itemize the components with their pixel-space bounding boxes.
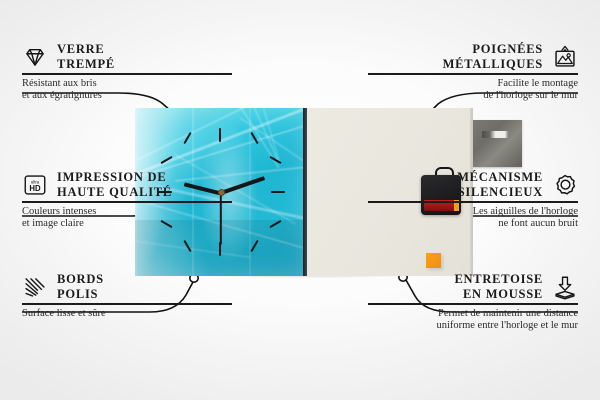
feature-title: POIGNÉES MÉTALLIQUES xyxy=(443,42,543,71)
feature-description: Facilite le montage de l'horloge sur le … xyxy=(368,75,578,103)
infographic-canvas: VERRE TREMPÉ Résistant aux bris et aux é… xyxy=(0,0,600,400)
ultra-hd-icon: ultra HD xyxy=(22,172,48,198)
feature-verre-trempe: VERRE TREMPÉ Résistant aux bris et aux é… xyxy=(22,42,232,103)
feature-header: BORDS POLIS xyxy=(22,272,232,303)
polished-edges-icon xyxy=(22,274,48,300)
feature-header: MÉCANISME SILENCIEUX xyxy=(368,170,578,201)
feature-description: Couleurs intenses et image claire xyxy=(22,203,232,231)
feature-impression-haute-qualite: ultra HD IMPRESSION DE HAUTE QUALITÉ Cou… xyxy=(22,170,232,231)
feature-header: ultra HD IMPRESSION DE HAUTE QUALITÉ xyxy=(22,170,232,201)
feature-bords-polis: BORDS POLIS Surface lisse et sûre xyxy=(22,272,232,320)
feature-title: ENTRETOISE EN MOUSSE xyxy=(454,272,543,301)
foam-spacer-icon xyxy=(552,274,578,300)
hanger-slot xyxy=(482,131,508,138)
feature-poignees-metalliques: POIGNÉES MÉTALLIQUES Facilite le montage… xyxy=(368,42,578,103)
feature-title: BORDS POLIS xyxy=(57,272,104,301)
feature-description: Surface lisse et sûre xyxy=(22,305,232,321)
feature-description: Les aiguilles de l'horloge ne font aucun… xyxy=(368,203,578,231)
feature-mecanisme-silencieux: MÉCANISME SILENCIEUX Les aiguilles de l'… xyxy=(368,170,578,231)
feature-title: MÉCANISME SILENCIEUX xyxy=(457,170,543,199)
svg-text:HD: HD xyxy=(29,184,41,193)
feature-description: Résistant aux bris et aux égratignures xyxy=(22,75,232,103)
feature-header: VERRE TREMPÉ xyxy=(22,42,232,73)
feature-title: VERRE TREMPÉ xyxy=(57,42,115,71)
metal-hanger-plate xyxy=(472,120,522,167)
feature-header: ENTRETOISE EN MOUSSE xyxy=(368,272,578,303)
feature-header: POIGNÉES MÉTALLIQUES xyxy=(368,42,578,73)
feature-entretoise-en-mousse: ENTRETOISE EN MOUSSE Permet de maintenir… xyxy=(368,272,578,333)
gear-icon xyxy=(552,172,578,198)
picture-hanger-icon xyxy=(552,44,578,70)
feature-title: IMPRESSION DE HAUTE QUALITÉ xyxy=(57,170,172,199)
feature-description: Permet de maintenir une distance uniform… xyxy=(368,305,578,333)
foam-spacer xyxy=(426,253,441,268)
diamond-icon xyxy=(22,44,48,70)
